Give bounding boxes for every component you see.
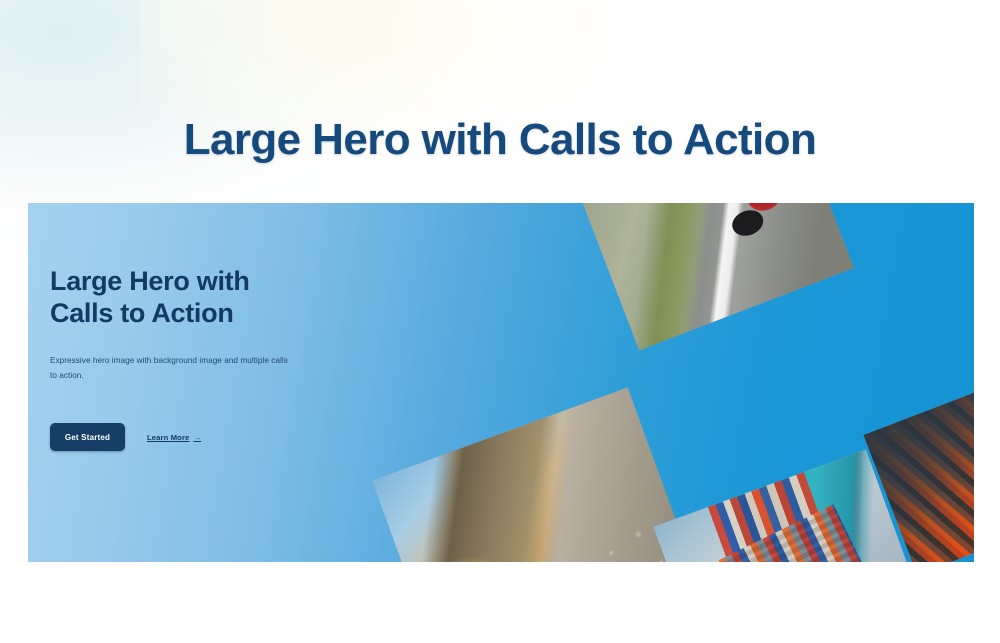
learn-more-label: Learn More: [147, 433, 189, 442]
collage-tile-truck-on-mountain-road: [576, 203, 854, 350]
hero-call-to-action-group: Get Started Learn More →: [50, 423, 380, 451]
hero-banner: Large Hero with Calls to Action Expressi…: [28, 203, 974, 562]
page-title: Large Hero with Calls to Action: [0, 115, 1000, 165]
page-canvas: Large Hero with Calls to Action: [0, 0, 1000, 643]
port-cranes-aerial-image: [863, 367, 974, 562]
heavy-machinery-golden-hour-image: [372, 388, 696, 562]
collage-tile-port-cranes-aerial: [863, 367, 974, 562]
hero-subtitle: Expressive hero image with background im…: [50, 354, 296, 383]
collage-tile-container-ship: [653, 450, 924, 562]
collage-tile-heavy-machinery-golden-hour: [372, 388, 696, 562]
learn-more-link[interactable]: Learn More →: [147, 433, 201, 442]
arrow-right-icon: →: [193, 433, 201, 442]
container-ship-image: [653, 450, 924, 562]
container-stacks: [699, 504, 863, 562]
get-started-button[interactable]: Get Started: [50, 423, 125, 451]
hero-content: Large Hero with Calls to Action Expressi…: [50, 265, 380, 451]
truck-on-mountain-road-image: [576, 203, 854, 350]
hero-heading: Large Hero with Calls to Action: [50, 265, 312, 329]
